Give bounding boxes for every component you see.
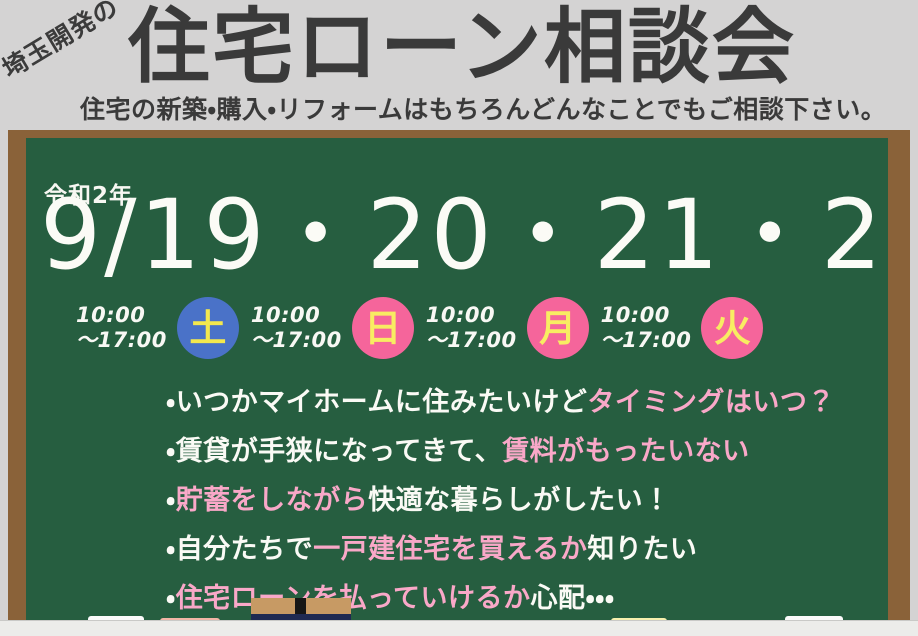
bullet-3-part3: 知りたい (587, 534, 697, 565)
poster-header: 埼玉開発の 住宅ローン相談会 住宅の新築・購入・リフォームはもちろんどんなことで… (0, 0, 918, 130)
day-badge-sat: 土 (177, 297, 239, 359)
day-cell-mon: 10:00 ～17:00 月 (426, 297, 589, 359)
event-date: 9/19・20・21・22 (40, 180, 888, 290)
bullet-3-part2: 一戸建住宅を買えるか (313, 534, 587, 565)
bullet-1-part2: 賃料がもったいない (502, 436, 750, 467)
day-time-sat-line1: 10:00 (76, 303, 167, 328)
list-item: ・自分たちで一戸建住宅を買えるか知りたい (166, 525, 886, 574)
bullet-marker: ・ (166, 436, 176, 467)
day-time-sun: 10:00 ～17:00 (251, 303, 342, 353)
day-time-sat: 10:00 ～17:00 (76, 303, 167, 353)
bullet-0-part2: タイミングはいつ？ (587, 387, 835, 418)
bullet-marker: ・ (166, 583, 176, 614)
bullet-marker: ・ (166, 534, 176, 565)
concerns-list: ・いつかマイホームに住みたいけどタイミングはいつ？ ・賃貸が手狭になってきて、賃… (166, 378, 886, 622)
day-time-sat-line2: ～17:00 (76, 328, 167, 353)
day-time-row: 10:00 ～17:00 土 10:00 ～17:00 日 10:00 ～1 (76, 290, 886, 366)
day-time-mon-line2: ～17:00 (426, 328, 517, 353)
day-time-mon: 10:00 ～17:00 (426, 303, 517, 353)
day-badge-sun: 日 (352, 297, 414, 359)
list-item: ・貯蓄をしながら快適な暮らしがしたい！ (166, 476, 886, 525)
day-cell-sat: 10:00 ～17:00 土 (76, 297, 239, 359)
brand-kicker: 埼玉開発の (0, 0, 125, 85)
bullet-4-part1: 住宅ローンを払っていけるか (176, 583, 531, 614)
day-time-sun-line2: ～17:00 (251, 328, 342, 353)
day-time-tue: 10:00 ～17:00 (601, 303, 692, 353)
list-item: ・いつかマイホームに住みたいけどタイミングはいつ？ (166, 378, 886, 427)
day-badge-tue: 火 (701, 297, 763, 359)
chalk-ledge (0, 620, 918, 636)
day-time-sun-line1: 10:00 (251, 303, 342, 328)
bullet-0-part1: いつかマイホームに住みたいけど (176, 387, 588, 418)
chalkboard-frame: 令和2年 9/19・20・21・22 10:00 ～17:00 土 10:00 … (8, 130, 910, 622)
day-cell-tue: 10:00 ～17:00 火 (601, 297, 764, 359)
day-time-tue-line2: ～17:00 (601, 328, 692, 353)
eraser-stripe (295, 598, 306, 614)
bullet-1-part1: 賃貸が手狭になってきて、 (176, 436, 503, 467)
bullet-4-part2: 心配・・・ (531, 583, 615, 614)
chalkboard: 令和2年 9/19・20・21・22 10:00 ～17:00 土 10:00 … (26, 138, 888, 622)
bullet-3-part1: 自分たちで (176, 534, 314, 565)
bullet-marker: ・ (166, 387, 176, 418)
bullet-marker: ・ (166, 485, 176, 516)
day-time-mon-line1: 10:00 (426, 303, 517, 328)
bullet-2-part2: 快適な暮らしがしたい！ (368, 485, 671, 516)
day-cell-sun: 10:00 ～17:00 日 (251, 297, 414, 359)
day-badge-mon: 月 (527, 297, 589, 359)
list-item: ・賃貸が手狭になってきて、賃料がもったいない (166, 427, 886, 476)
bullet-2-part1: 貯蓄をしながら (176, 485, 369, 516)
day-time-tue-line1: 10:00 (601, 303, 692, 328)
page-title: 住宅ローン相談会 (128, 2, 796, 94)
page-subtitle: 住宅の新築・購入・リフォームはもちろんどんなことでもご相談下さい。 (80, 95, 910, 125)
poster-root: 埼玉開発の 住宅ローン相談会 住宅の新築・購入・リフォームはもちろんどんなことで… (0, 0, 918, 635)
